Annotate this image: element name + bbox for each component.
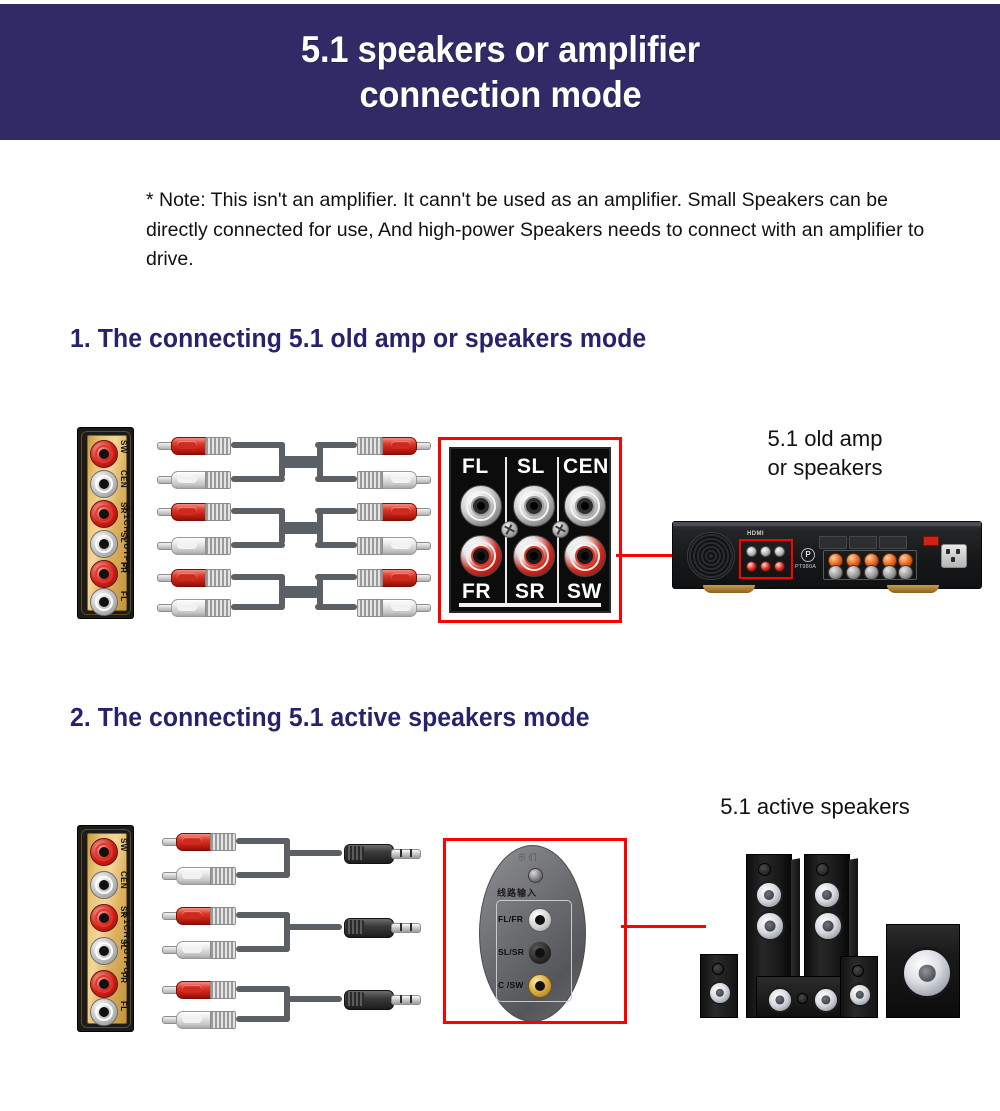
callout-box-2: 示 们 线路输入 FL/FR SL/SR C /SW <box>443 838 627 1024</box>
power-socket[interactable] <box>941 544 967 568</box>
rca-plug-red-left-1 <box>155 434 237 456</box>
rca-plug-red-left-2 <box>155 500 237 522</box>
amp-foot <box>887 585 939 593</box>
speaker-post[interactable] <box>828 565 843 580</box>
amp-rca-jack[interactable] <box>760 546 771 557</box>
cable-wire <box>236 986 290 992</box>
jack-label-sw: SW <box>119 440 128 454</box>
rca-jack-sr[interactable] <box>90 500 118 528</box>
rca-plug-white-left-1 <box>155 468 237 490</box>
note-text: * Note: This isn't an amplifier. It cann… <box>146 186 926 275</box>
voltage-selector-switch[interactable] <box>923 536 939 546</box>
cable-wire <box>236 838 290 844</box>
hdmi-port[interactable] <box>849 536 877 549</box>
rca-plug-red-left-2 <box>160 904 242 926</box>
jack-label-sr: SR <box>515 580 545 604</box>
rca-plug-white-left-2 <box>155 534 237 556</box>
hdmi-port[interactable] <box>879 536 907 549</box>
rca-plug-red-left-3 <box>155 566 237 588</box>
center-driver-left <box>767 987 793 1013</box>
jack-panel-1: FL SL CEN FR SR SW <box>449 447 611 613</box>
hdmi-text: HDMI <box>747 531 764 537</box>
rca-plug-white-left-2 <box>160 938 242 960</box>
tweeter-driver <box>758 863 771 876</box>
subwoofer-driver <box>901 947 953 999</box>
fan-grille-icon <box>687 532 735 580</box>
jack-label-cen: CEN <box>119 470 128 488</box>
jack-label-fl: FL <box>119 591 128 602</box>
cable-wire <box>231 508 285 514</box>
panel-jack-sw[interactable] <box>564 535 606 577</box>
source-panel-1: SW CEN SR SL FR FL 5.1CH OUTPUT <box>78 428 133 618</box>
cable-wire <box>284 924 342 930</box>
cable-wire <box>279 528 321 534</box>
rca-plug-red-right-3 <box>351 566 433 588</box>
destination-label-1-line1: 5.1 old amp <box>700 424 950 453</box>
oval-jack-c-sw[interactable] <box>528 974 552 998</box>
panel-jack-fr[interactable] <box>460 535 502 577</box>
brand-logo: P <box>801 548 815 562</box>
rca-jack-cen[interactable] <box>90 871 118 899</box>
panel-output-label: 5.1CH OUTPUT <box>122 506 132 575</box>
cable-wire <box>279 592 321 598</box>
callout-box-1: FL SL CEN FR SR SW <box>438 437 622 623</box>
amplifier-rear-device: HDMI P PT980A <box>672 521 982 589</box>
tweeter-driver <box>816 863 829 876</box>
amp-top-edge <box>673 522 981 526</box>
jack-label-fl: FL <box>462 455 489 479</box>
cable-group-2 <box>160 826 440 1031</box>
page-title-line1: 5.1 speakers or amplifier <box>301 29 700 70</box>
subwoofer-speaker <box>886 924 960 1018</box>
jack-label-fr: FR <box>462 580 491 604</box>
rca-jack-sw[interactable] <box>90 440 118 468</box>
rca-plug-white-left-3 <box>160 1008 242 1030</box>
amp-rca-jack[interactable] <box>746 546 757 557</box>
cable-wire <box>231 476 285 482</box>
rca-jack-fr[interactable] <box>90 970 118 998</box>
speaker-post[interactable] <box>882 565 897 580</box>
rca-jack-fl[interactable] <box>90 998 118 1026</box>
oval-jack-label-sl-sr: SL/SR <box>498 947 524 957</box>
rca-plug-white-left-1 <box>160 864 242 886</box>
oval-jack-panel: 示 们 线路输入 FL/FR SL/SR C /SW <box>479 845 586 1022</box>
tweeter-driver <box>712 963 724 975</box>
rca-jack-sl[interactable] <box>90 937 118 965</box>
satellite-speaker-left <box>700 954 738 1018</box>
woofer-driver <box>755 911 785 941</box>
rca-plug-red-left-1 <box>160 830 242 852</box>
trs-plug-3 <box>336 988 422 1010</box>
speaker-post[interactable] <box>898 565 913 580</box>
cable-wire <box>236 946 290 952</box>
trs-plug-2 <box>336 916 422 938</box>
jack-label-sw: SW <box>567 580 602 604</box>
amp-model-text: PT980A <box>795 564 816 570</box>
jack-label-fl: FL <box>119 1001 128 1012</box>
cable-wire <box>236 872 290 878</box>
destination-label-1-line2: or speakers <box>700 453 950 482</box>
cable-wire <box>236 1016 290 1022</box>
jack-label-cen: CEN <box>119 871 128 889</box>
rca-jack-fl[interactable] <box>90 588 118 616</box>
screw-icon <box>528 868 543 883</box>
panel-jack-fl[interactable] <box>460 485 502 527</box>
callout-connector-line-2 <box>621 925 706 928</box>
tweeter-driver <box>852 965 864 977</box>
infographic-page: 5.1 speakers or amplifier connection mod… <box>0 0 1000 1111</box>
panel-chinese-top-text: 示 们 <box>518 852 537 863</box>
source-panel-2: SW CEN SR SL FR FL 5.1CH OUTPUT <box>78 826 133 1031</box>
trs-plug-1 <box>336 842 422 864</box>
center-channel-speaker <box>756 976 846 1018</box>
panel-jack-cen[interactable] <box>564 485 606 527</box>
jack-label-cen: CEN <box>563 455 609 479</box>
screw-icon <box>552 521 569 538</box>
amp-rca-highlight-box <box>739 539 793 579</box>
cable-wire <box>284 838 290 878</box>
rca-jack-sr[interactable] <box>90 904 118 932</box>
cable-wire <box>284 996 342 1002</box>
cable-wire <box>231 604 285 610</box>
page-title: 5.1 speakers or amplifier connection mod… <box>301 27 700 117</box>
cable-wire <box>236 912 290 918</box>
page-header: 5.1 speakers or amplifier connection mod… <box>0 4 1000 140</box>
amp-rca-jack[interactable] <box>774 546 785 557</box>
panel-jack-sr[interactable] <box>513 535 555 577</box>
section-1-heading: 1. The connecting 5.1 old amp or speaker… <box>70 325 646 354</box>
center-tweeter <box>797 993 808 1004</box>
speaker-post[interactable] <box>846 565 861 580</box>
jack-label-sw: SW <box>119 838 128 852</box>
rca-plug-white-right-2 <box>351 534 433 556</box>
rca-plug-red-right-1 <box>351 434 433 456</box>
panel-chinese-label: 线路输入 <box>497 886 537 899</box>
amp-rca-jack[interactable] <box>746 561 757 572</box>
rca-plug-red-left-3 <box>160 978 242 1000</box>
cable-wire <box>284 986 290 1022</box>
oval-jack-fl-fr[interactable] <box>528 908 552 932</box>
cable-wire <box>231 574 285 580</box>
section-2-heading: 2. The connecting 5.1 active speakers mo… <box>70 704 590 733</box>
destination-label-2: 5.1 active speakers <box>665 792 965 821</box>
woofer-driver <box>848 983 872 1007</box>
panel-output-label: 5.1CH OUTPUT <box>122 911 132 980</box>
cable-wire <box>231 542 285 548</box>
page-title-line2: connection mode <box>301 72 700 117</box>
speaker-post[interactable] <box>864 565 879 580</box>
mid-driver <box>813 881 841 909</box>
cable-wire <box>317 524 323 544</box>
woofer-driver <box>813 911 843 941</box>
rca-plug-white-right-3 <box>351 596 433 618</box>
rca-jack-cen[interactable] <box>90 470 118 498</box>
cable-wire <box>284 912 290 952</box>
cable-wire <box>231 442 285 448</box>
rca-jack-fr[interactable] <box>90 560 118 588</box>
oval-jack-label-fl-fr: FL/FR <box>498 914 523 924</box>
screw-icon <box>501 521 518 538</box>
oval-jack-sl-sr[interactable] <box>528 941 552 965</box>
amp-rca-jack[interactable] <box>760 561 771 572</box>
speaker-terminal-group <box>823 550 917 580</box>
destination-label-2-line1: 5.1 active speakers <box>665 792 965 821</box>
destination-label-1: 5.1 old amp or speakers <box>700 424 950 482</box>
oval-jack-label-c-sw: C /SW <box>498 980 524 990</box>
rca-jack-sw[interactable] <box>90 838 118 866</box>
center-driver-right <box>813 987 839 1013</box>
rca-jack-sl[interactable] <box>90 530 118 558</box>
rca-plug-white-left-3 <box>155 596 237 618</box>
rca-plug-white-right-1 <box>351 468 433 490</box>
mid-driver <box>755 881 783 909</box>
hdmi-port[interactable] <box>819 536 847 549</box>
cable-wire <box>317 458 323 478</box>
jack-label-sl: SL <box>517 455 545 479</box>
panel-jack-sl[interactable] <box>513 485 555 527</box>
amp-foot <box>703 585 755 593</box>
rca-plug-red-right-2 <box>351 500 433 522</box>
woofer-driver <box>708 981 732 1005</box>
cable-wire <box>284 850 342 856</box>
cable-group-1 <box>155 428 435 618</box>
amp-rca-jack[interactable] <box>774 561 785 572</box>
cable-wire <box>279 462 321 468</box>
speaker-system-device <box>700 852 970 1020</box>
satellite-speaker-right <box>840 956 878 1018</box>
